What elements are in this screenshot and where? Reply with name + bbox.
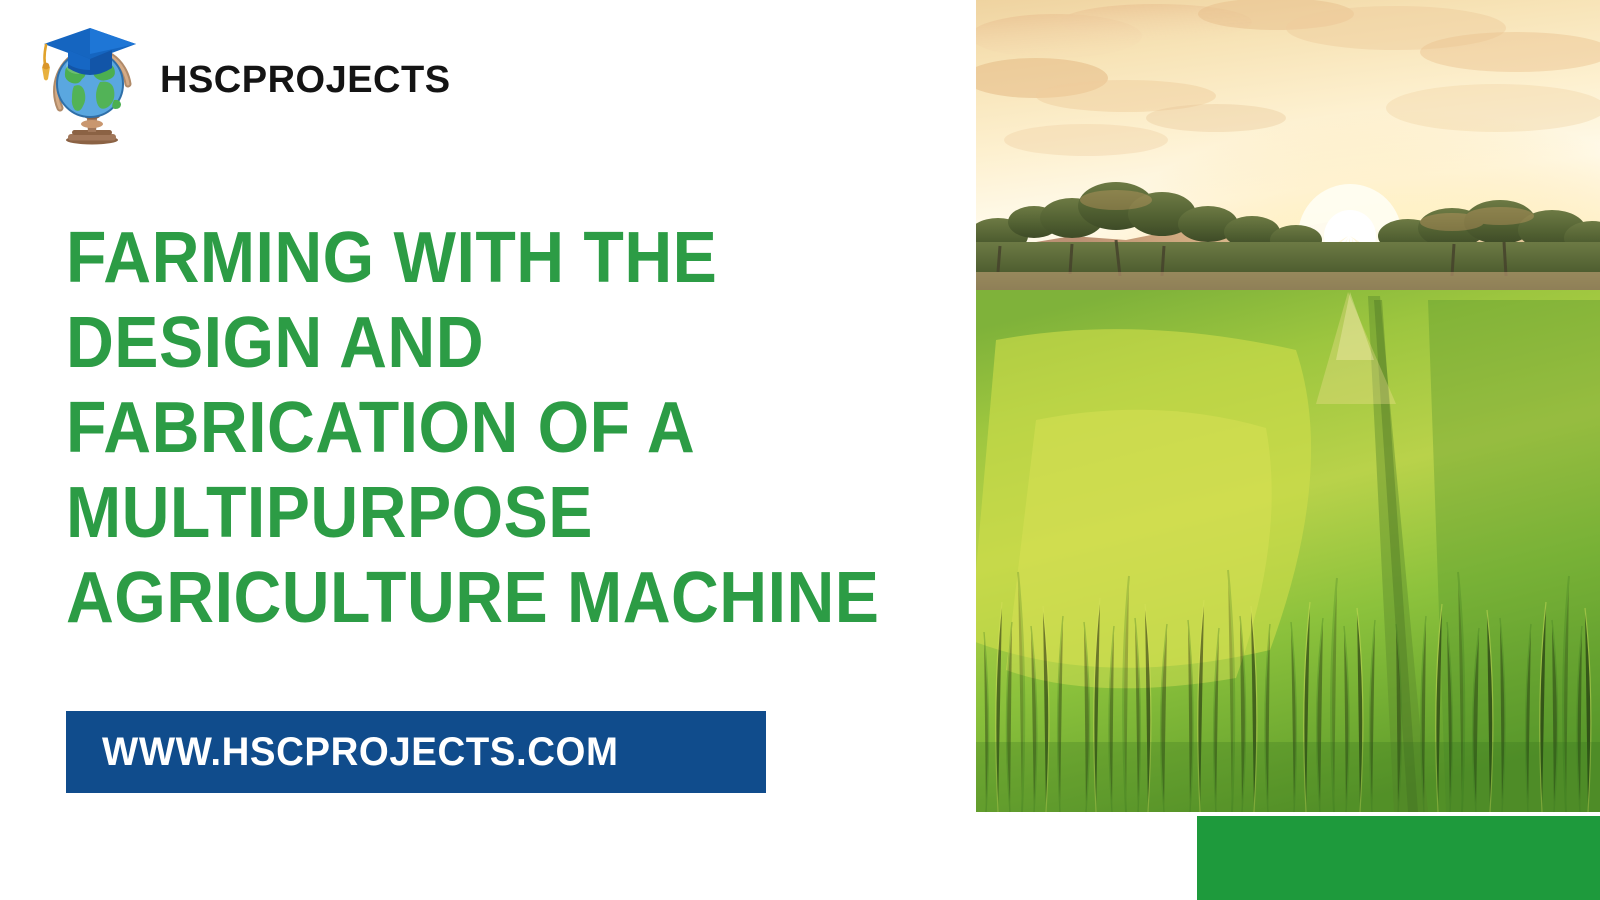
- website-url-text: WWW.HSCPROJECTS.COM: [102, 730, 619, 775]
- title-line-4: MULTIPURPOSE: [66, 471, 876, 556]
- page-title: FARMING WITH THE DESIGN AND FABRICATION …: [66, 216, 876, 641]
- globe-graduation-cap-icon: [38, 14, 146, 146]
- title-line-1: FARMING WITH THE: [66, 216, 876, 301]
- poster-canvas: HSCPROJECTS FARMING WITH THE DESIGN AND …: [0, 0, 1600, 900]
- brand-lockup[interactable]: HSCPROJECTS: [38, 14, 451, 146]
- hero-photo: [976, 0, 1600, 812]
- green-accent-block: [1197, 816, 1600, 900]
- brand-name: HSCPROJECTS: [160, 61, 451, 99]
- left-content-column: HSCPROJECTS FARMING WITH THE DESIGN AND …: [0, 0, 976, 900]
- title-line-5: AGRICULTURE MACHINE: [66, 556, 876, 641]
- title-line-2: DESIGN AND: [66, 301, 876, 386]
- title-line-3: FABRICATION OF A: [66, 386, 876, 471]
- website-url-banner[interactable]: WWW.HSCPROJECTS.COM: [66, 711, 766, 793]
